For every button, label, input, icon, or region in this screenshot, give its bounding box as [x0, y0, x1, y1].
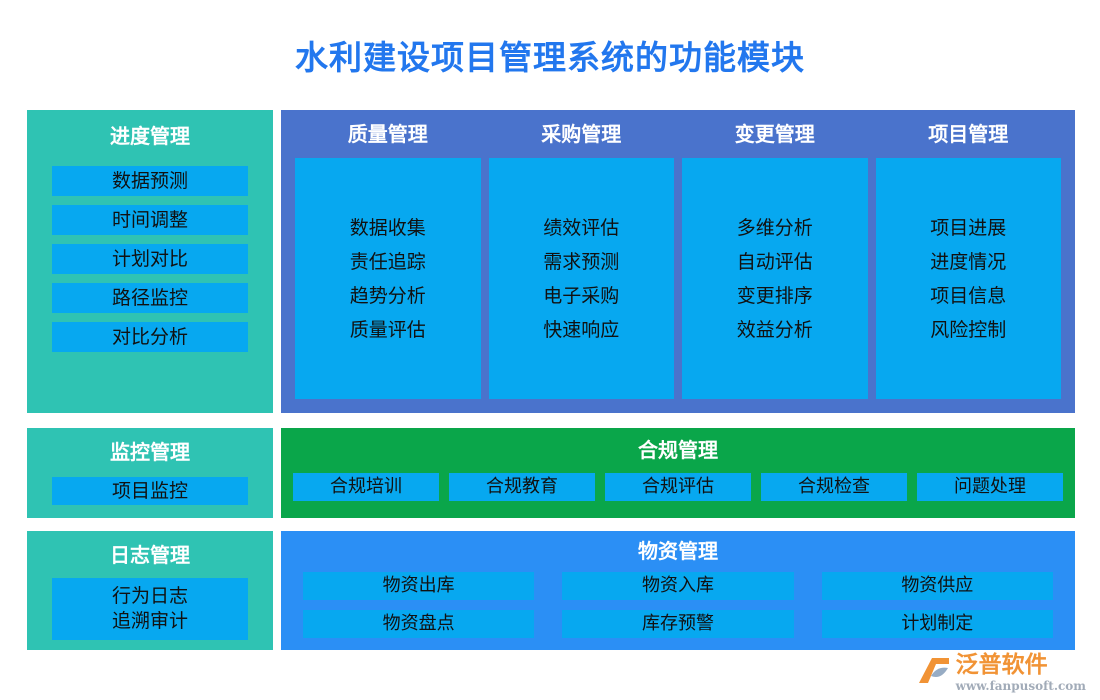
column-procurement-management: 采购管理 绩效评估 需求预测 电子采购 快速响应	[489, 122, 675, 399]
list-item[interactable]: 路径监控	[52, 283, 248, 313]
watermark-url: www.fanpusoft.com	[956, 680, 1086, 692]
panel-title-project-management: 项目管理	[876, 122, 1062, 146]
list-item[interactable]: 合规评估	[605, 473, 751, 501]
page-title: 水利建设项目管理系统的功能模块	[0, 38, 1100, 78]
list-item[interactable]: 效益分析	[737, 317, 813, 343]
panel-title-compliance-management: 合规管理	[281, 438, 1075, 462]
material-item-grid: 物资出库 物资入库 物资供应 物资盘点 库存预警 计划制定	[281, 563, 1075, 638]
panel-log-management: 日志管理 行为日志 追溯审计	[27, 531, 273, 650]
watermark: 泛普软件 www.fanpusoft.com	[917, 654, 1086, 692]
panel-title-monitoring-management: 监控管理	[27, 440, 273, 464]
list-item[interactable]: 时间调整	[52, 205, 248, 235]
compliance-item-list: 合规培训 合规教育 合规评估 合规检查 问题处理	[281, 462, 1075, 501]
list-item[interactable]: 进度情况	[930, 249, 1006, 275]
list-item[interactable]: 数据预测	[52, 166, 248, 196]
fanpu-logo-icon	[917, 656, 951, 690]
panel-core-modules: 质量管理 数据收集 责任追踪 趋势分析 质量评估 采购管理 绩效评估 需求预测 …	[281, 110, 1075, 413]
list-item[interactable]: 需求预测	[543, 249, 619, 275]
list-item[interactable]: 行为日志 追溯审计	[52, 578, 248, 640]
list-item[interactable]: 项目监控	[52, 477, 248, 505]
list-item[interactable]: 趋势分析	[350, 283, 426, 309]
list-item[interactable]: 计划对比	[52, 244, 248, 274]
panel-title-material-management: 物资管理	[281, 539, 1075, 563]
list-item[interactable]: 电子采购	[543, 283, 619, 309]
column-project-management: 项目管理 项目进展 进度情况 项目信息 风险控制	[876, 122, 1062, 399]
list-item[interactable]: 问题处理	[917, 473, 1063, 501]
list-item[interactable]: 物资出库	[303, 572, 534, 600]
panel-material-management: 物资管理 物资出库 物资入库 物资供应 物资盘点 库存预警 计划制定	[281, 531, 1075, 650]
list-item[interactable]: 变更排序	[737, 283, 813, 309]
list-item[interactable]: 合规教育	[449, 473, 595, 501]
list-item[interactable]: 物资入库	[562, 572, 793, 600]
list-item[interactable]: 物资盘点	[303, 610, 534, 638]
panel-title-progress-management: 进度管理	[27, 124, 273, 148]
list-item[interactable]: 自动评估	[737, 249, 813, 275]
watermark-brand: 泛普软件	[956, 654, 1086, 677]
column-change-management: 变更管理 多维分析 自动评估 变更排序 效益分析	[682, 122, 868, 399]
functional-module-diagram: 水利建设项目管理系统的功能模块 进度管理 数据预测 时间调整 计划对比 路径监控…	[0, 0, 1100, 700]
change-management-entries: 多维分析 自动评估 变更排序 效益分析	[682, 158, 868, 399]
panel-title-procurement-management: 采购管理	[489, 122, 675, 146]
list-item[interactable]: 质量评估	[350, 317, 426, 343]
list-item[interactable]: 合规检查	[761, 473, 907, 501]
watermark-text: 泛普软件 www.fanpusoft.com	[956, 654, 1086, 692]
monitoring-item-list: 项目监控	[27, 477, 273, 505]
panel-title-change-management: 变更管理	[682, 122, 868, 146]
list-item[interactable]: 责任追踪	[350, 249, 426, 275]
list-item[interactable]: 风险控制	[930, 317, 1006, 343]
panel-title-quality-management: 质量管理	[295, 122, 481, 146]
list-item[interactable]: 项目进展	[930, 215, 1006, 241]
panel-monitoring-management: 监控管理 项目监控	[27, 428, 273, 518]
quality-management-entries: 数据收集 责任追踪 趋势分析 质量评估	[295, 158, 481, 399]
column-quality-management: 质量管理 数据收集 责任追踪 趋势分析 质量评估	[295, 122, 481, 399]
list-item[interactable]: 绩效评估	[543, 215, 619, 241]
list-item[interactable]: 快速响应	[543, 317, 619, 343]
list-item[interactable]: 合规培训	[293, 473, 439, 501]
core-module-columns: 质量管理 数据收集 责任追踪 趋势分析 质量评估 采购管理 绩效评估 需求预测 …	[281, 110, 1075, 413]
log-item-list: 行为日志 追溯审计	[27, 578, 273, 640]
progress-item-list: 数据预测 时间调整 计划对比 路径监控 对比分析	[27, 166, 273, 352]
panel-title-log-management: 日志管理	[27, 543, 273, 567]
list-item[interactable]: 对比分析	[52, 322, 248, 352]
list-item[interactable]: 库存预警	[562, 610, 793, 638]
list-item[interactable]: 多维分析	[737, 215, 813, 241]
panel-compliance-management: 合规管理 合规培训 合规教育 合规评估 合规检查 问题处理	[281, 428, 1075, 518]
procurement-management-entries: 绩效评估 需求预测 电子采购 快速响应	[489, 158, 675, 399]
project-management-entries: 项目进展 进度情况 项目信息 风险控制	[876, 158, 1062, 399]
list-item[interactable]: 项目信息	[930, 283, 1006, 309]
panel-progress-management: 进度管理 数据预测 时间调整 计划对比 路径监控 对比分析	[27, 110, 273, 413]
list-item[interactable]: 数据收集	[350, 215, 426, 241]
list-item[interactable]: 物资供应	[822, 572, 1053, 600]
list-item[interactable]: 计划制定	[822, 610, 1053, 638]
